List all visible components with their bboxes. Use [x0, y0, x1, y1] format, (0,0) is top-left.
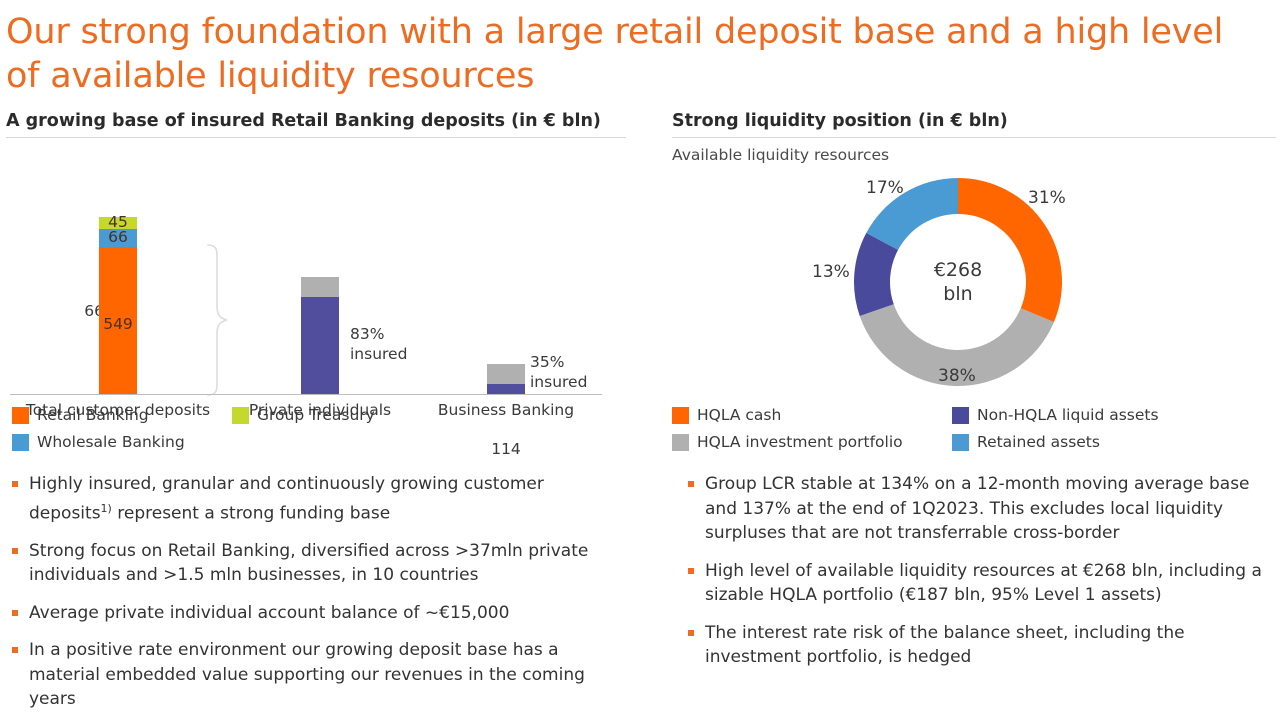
brace-bracket	[202, 244, 236, 400]
x-axis-line	[10, 394, 602, 395]
legend-swatch-retail-banking-icon	[12, 407, 29, 424]
bullet-marker-icon	[12, 481, 18, 487]
annotation-private-word: insured	[350, 344, 407, 364]
bullet-marker-icon	[688, 481, 694, 487]
legend-item-retail-banking[interactable]: Retail Banking	[12, 406, 232, 425]
left-bullet-list: Highly insured, granular and continuousl…	[12, 472, 612, 725]
list-item: The interest rate risk of the balance sh…	[688, 621, 1278, 670]
legend-label-non-hqla-liquid-assets: Non-HQLA liquid assets	[977, 406, 1159, 425]
bullet-marker-icon	[12, 647, 18, 653]
annotation-private-individuals: 83% insured	[350, 324, 407, 364]
donut-label-retained-assets: 17%	[866, 178, 904, 198]
donut-chart: €268 bln 31% 38% 13% 17%	[790, 170, 1120, 395]
bullet-marker-icon	[688, 630, 694, 636]
annotation-business-pct: 35%	[530, 352, 587, 372]
left-panel: A growing base of insured Retail Banking…	[6, 110, 626, 419]
list-item: High level of available liquidity resour…	[688, 559, 1278, 608]
bullet-text: Highly insured, granular and continuousl…	[29, 472, 612, 526]
bar-segment-insured-private	[301, 297, 339, 394]
legend-label-retail-banking: Retail Banking	[37, 406, 149, 425]
page-title: Our strong foundation with a large retai…	[6, 10, 1226, 98]
legend-swatch-wholesale-banking-icon	[12, 434, 29, 451]
bar-chart: 660 45 66 549 435 83%	[6, 144, 626, 419]
annotation-business-word: insured	[530, 372, 587, 392]
bar-total-customer-deposits: 45 66 549	[99, 217, 137, 394]
legend-item-hqla-investment-portfolio[interactable]: HQLA investment portfolio	[672, 433, 952, 452]
right-bullet-list: Group LCR stable at 134% on a 12-month m…	[688, 472, 1278, 683]
bar-private-individuals	[301, 277, 339, 394]
bar-segment-insured-business	[487, 384, 525, 394]
legend-swatch-group-treasury-icon	[232, 407, 249, 424]
legend-label-wholesale-banking: Wholesale Banking	[37, 433, 185, 452]
legend-swatch-hqla-cash-icon	[672, 407, 689, 424]
right-panel-subheader: Available liquidity resources	[672, 145, 1276, 165]
bar-segment-label-retail-banking: 549	[99, 315, 137, 333]
bullet-marker-icon	[688, 568, 694, 574]
right-panel-header: Strong liquidity position (in € bln)	[672, 110, 1276, 138]
bullet-marker-icon	[12, 610, 18, 616]
legend-label-hqla-cash: HQLA cash	[697, 406, 781, 425]
legend-swatch-retained-assets-icon	[952, 434, 969, 451]
legend-item-hqla-cash[interactable]: HQLA cash	[672, 406, 952, 425]
list-item: Average private individual account balan…	[12, 601, 612, 626]
bullet-marker-icon	[12, 548, 18, 554]
donut-center-label: €268 bln	[934, 258, 982, 306]
list-item: Strong focus on Retail Banking, diversif…	[12, 539, 612, 588]
right-panel: Strong liquidity position (in € bln) Ava…	[672, 110, 1276, 165]
bullet-text: Group LCR stable at 134% on a 12-month m…	[705, 472, 1278, 546]
donut-center-value: €268	[934, 258, 982, 282]
bar-segment-not-insured-private	[301, 277, 339, 297]
donut-center-unit: bln	[934, 282, 982, 306]
list-item: Highly insured, granular and continuousl…	[12, 472, 612, 526]
donut-label-non-hqla-liquid-assets: 13%	[812, 262, 850, 282]
bar-chart-legend: Retail Banking Group Treasury Wholesale …	[12, 406, 375, 452]
bar-total-label-3: 114	[476, 440, 536, 458]
legend-label-group-treasury: Group Treasury	[257, 406, 375, 425]
slide: Our strong foundation with a large retai…	[0, 0, 1280, 716]
legend-item-wholesale-banking[interactable]: Wholesale Banking	[12, 433, 232, 452]
bullet-text-part2: represent a strong funding base	[112, 503, 390, 523]
legend-swatch-hqla-investment-portfolio-icon	[672, 434, 689, 451]
annotation-private-pct: 83%	[350, 324, 407, 344]
annotation-business-banking: 35% insured	[530, 352, 587, 392]
x-axis-tick-business-banking: Business Banking	[406, 400, 606, 420]
bullet-text: The interest rate risk of the balance sh…	[705, 621, 1278, 670]
bar-segment-label-wholesale-banking: 66	[99, 228, 137, 246]
bullet-text: In a positive rate environment our growi…	[29, 638, 612, 712]
list-item: In a positive rate environment our growi…	[12, 638, 612, 712]
legend-label-hqla-investment-portfolio: HQLA investment portfolio	[697, 433, 903, 452]
bar-business-banking	[487, 364, 525, 394]
legend-item-group-treasury[interactable]: Group Treasury	[232, 406, 375, 425]
left-panel-header: A growing base of insured Retail Banking…	[6, 110, 626, 138]
bullet-text: High level of available liquidity resour…	[705, 559, 1278, 608]
bullet-text: Average private individual account balan…	[29, 601, 509, 626]
legend-item-non-hqla-liquid-assets[interactable]: Non-HQLA liquid assets	[952, 406, 1159, 425]
legend-item-retained-assets[interactable]: Retained assets	[952, 433, 1100, 452]
bar-segment-not-insured-business	[487, 364, 525, 384]
list-item: Group LCR stable at 134% on a 12-month m…	[688, 472, 1278, 546]
legend-label-retained-assets: Retained assets	[977, 433, 1100, 452]
donut-chart-legend: HQLA cash Non-HQLA liquid assets HQLA in…	[672, 406, 1159, 452]
bullet-text: Strong focus on Retail Banking, diversif…	[29, 539, 612, 588]
bullet-footnote-marker: 1)	[101, 502, 112, 515]
donut-label-hqla-investment-portfolio: 38%	[938, 366, 976, 386]
legend-swatch-non-hqla-liquid-assets-icon	[952, 407, 969, 424]
donut-label-hqla-cash: 31%	[1028, 188, 1066, 208]
